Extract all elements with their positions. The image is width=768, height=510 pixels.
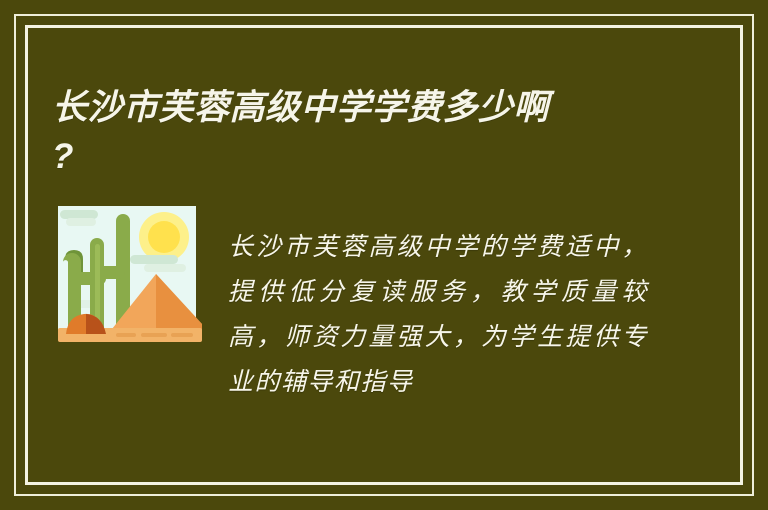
cloud-top-left-2 xyxy=(66,218,96,226)
sand-dash-3 xyxy=(171,333,193,337)
cloud-right xyxy=(130,255,178,264)
sun-core xyxy=(148,221,180,253)
desert-cactus-svg xyxy=(52,200,202,352)
page-canvas: 长沙市芙蓉高级中学学费多少啊 ? xyxy=(0,0,768,510)
page-title: 长沙市芙蓉高级中学学费多少啊 ? xyxy=(52,83,692,181)
cactus-arm-connector-right xyxy=(97,266,125,279)
cloud-right-2 xyxy=(144,264,186,272)
article-body-text: 长沙市芙蓉高级中学的学费适中，提供低分复读服务，教学质量较高，师资力量强大，为学… xyxy=(228,225,648,405)
article-content: 长沙市芙蓉高级中学的学费适中，提供低分复读服务，教学质量较高，师资力量强大，为学… xyxy=(52,200,708,430)
sand-dash-2 xyxy=(141,333,167,337)
desert-cactus-illustration xyxy=(52,200,202,352)
cloud-top-left xyxy=(60,210,98,219)
sand-dash-1 xyxy=(116,333,136,337)
